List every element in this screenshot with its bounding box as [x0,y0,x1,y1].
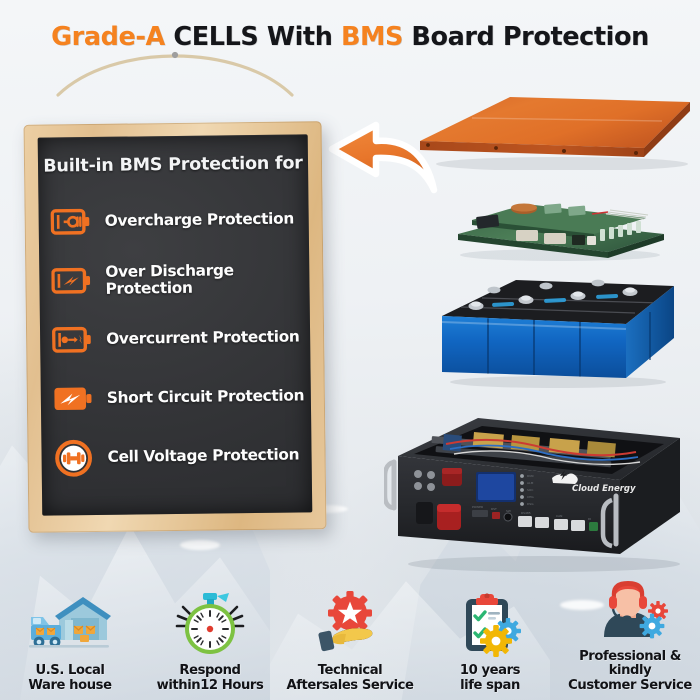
svg-text:RST: RST [491,507,497,511]
list-item: Overcurrent Protection [52,307,305,369]
feature-10-years-life-span: 10 years life span [420,564,560,694]
chalkboard-frame: Built-in BMS Protection for [24,121,327,533]
list-item: Over Discharge Protection [51,248,304,310]
list-item-label: Over Discharge Protection [105,262,303,297]
feature-us-local-warehouse: U.S. Local Ware house [0,564,140,694]
battery-plug-icon [51,207,91,237]
feature-professional-customer-service: Professional & kindly Customer Service [560,564,700,694]
list-item-label: Overcurrent Protection [106,329,300,348]
gear-hand-icon [312,588,388,660]
feature-respond-within-12-hours: Respond within12 Hours [140,564,280,694]
battery-short-icon [53,384,93,414]
battery-bolt-icon [51,266,91,296]
clipboard-check-icon [454,588,526,660]
snow-speck [180,540,220,550]
svg-text:RS485: RS485 [521,511,531,515]
list-item: Overcharge Protection [50,189,303,251]
list-item-label: Overcharge Protection [105,211,294,230]
feature-label: Professional & kindly Customer Service [560,650,700,694]
list-item-label: Cell Voltage Protection [107,447,299,466]
svg-text:CHG: CHG [527,495,534,499]
svg-text:CAN: CAN [556,514,562,518]
svg-text:DSG: DSG [527,502,534,506]
feature-label: U.S. Local Ware house [28,664,111,694]
chalkboard-face: Built-in BMS Protection for [38,134,313,515]
feature-technical-aftersales-service: Technical Aftersales Service [280,564,420,694]
title-segment-bms: BMS [341,22,411,52]
list-item: Short Circuit Protection [53,366,306,428]
orange-cover-plate [412,88,694,170]
title-segment-board-protection: Board Protection [411,22,648,52]
stopwatch-icon [173,588,247,660]
page-title: Grade-A CELLS With BMS Board Protection [0,22,700,52]
svg-text:POWER: POWER [472,505,483,509]
feature-label: Technical Aftersales Service [286,664,413,694]
chalkboard: Built-in BMS Protection for [26,95,326,535]
warehouse-truck-icon [27,588,113,660]
svg-text:DI: DI [588,517,591,521]
feature-label: 10 years life span [460,664,520,694]
svg-text:SOC: SOC [527,488,533,492]
chalkboard-heading: Built-in BMS Protection for [38,153,308,176]
headset-agent-icon [590,574,670,646]
cell-voltage-icon [53,443,93,473]
battery-current-icon [52,325,92,355]
infographic-poster: Grade-A CELLS With BMS Board Protection … [0,0,700,700]
feature-strip: U.S. Local Ware house [0,564,700,694]
protection-list: Overcharge Protection Over Dis [38,189,312,487]
list-item-label: Short Circuit Protection [107,388,304,407]
curved-left-arrow-icon [326,112,442,208]
svg-text:ALM: ALM [527,481,534,485]
svg-text:RUN: RUN [527,474,534,478]
lifepo4-cells [430,272,686,388]
title-segment-cells-with: CELLS With [173,22,341,52]
svg-text:SW: SW [506,509,511,513]
list-item: Cell Voltage Protection [53,425,306,487]
rack-brand-text: Cloud Energy [572,484,636,494]
title-segment-grade-a: Grade-A [51,22,173,52]
battery-rack-unit: RUN ALM SOC CHG DSG Cloud Energy POWER R… [384,404,696,572]
feature-label: Respond within12 Hours [157,664,264,694]
hanging-rope-icon [52,47,298,99]
bms-pcb-board [440,182,670,262]
